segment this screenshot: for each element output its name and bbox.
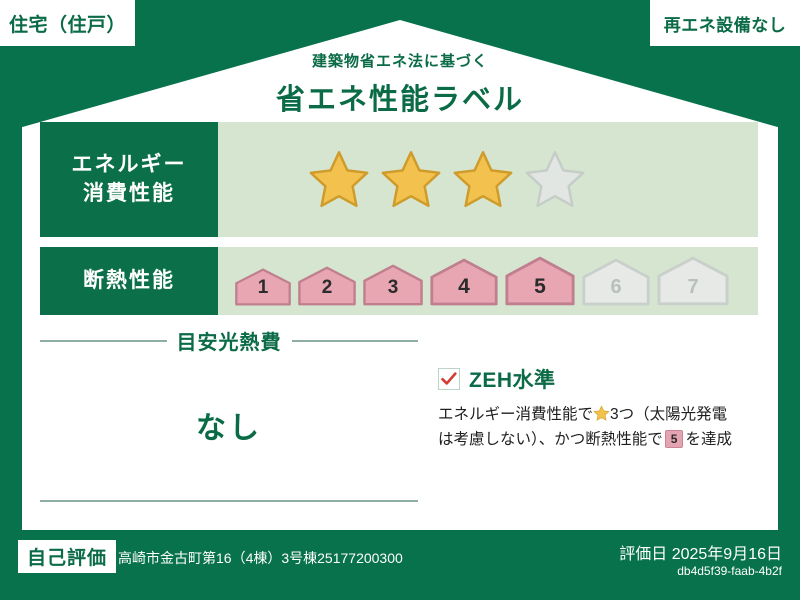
zeh-insulation-badge: 5 <box>665 430 684 448</box>
rule-left <box>40 340 167 342</box>
utility-cost-bottom-rule <box>40 500 418 502</box>
building-type-tag: 住宅（住戸） <box>0 0 135 46</box>
zeh-block: ZEH水準 エネルギー消費性能で3つ（太陽光発電は考慮しない）、かつ断熱性能で5… <box>438 364 788 452</box>
footer: 自己評価 高崎市金古町第16（4棟）3号棟25177200300 評価日 202… <box>0 530 800 600</box>
zeh-checkbox[interactable] <box>438 368 460 390</box>
zeh-header: ZEH水準 <box>438 364 788 394</box>
property-address: 高崎市金古町第16（4棟）3号棟25177200300 <box>118 548 403 568</box>
utility-cost-value: なし <box>40 403 418 447</box>
insulation-level-value: 2 <box>297 277 357 299</box>
insulation-level-6: 6 <box>581 258 651 306</box>
star-icon-empty <box>522 147 588 213</box>
energy-label-line1: エネルギー <box>72 151 187 179</box>
insulation-level-value: 1 <box>234 277 292 299</box>
insulation-performance-label-box: 断熱性能 <box>40 247 218 315</box>
insulation-level-5: 5 <box>504 256 576 306</box>
star-icon-filled <box>450 147 516 213</box>
insulation-level-1: 1 <box>234 268 292 306</box>
energy-label-line2: 消費性能 <box>83 180 175 208</box>
utility-cost-title: 目安光熱費 <box>177 326 282 355</box>
self-evaluation-badge: 自己評価 <box>18 540 116 573</box>
energy-performance-value <box>218 122 758 237</box>
insulation-level-value: 4 <box>429 275 499 299</box>
zeh-desc-part3: を達成 <box>685 431 732 448</box>
rule-right <box>292 340 419 342</box>
energy-performance-label-box: エネルギー 消費性能 <box>40 122 218 237</box>
insulation-level-4: 4 <box>429 258 499 306</box>
insulation-level-value: 5 <box>504 275 576 299</box>
zeh-desc-part2: は考慮しない）、かつ断熱性能で <box>438 431 663 448</box>
insulation-level-value: 6 <box>581 276 651 299</box>
zeh-desc-stars: 3つ（太陽光発電 <box>610 406 727 423</box>
insulation-level-value: 3 <box>362 277 424 299</box>
insulation-level-2: 2 <box>297 266 357 306</box>
insulation-label: 断熱性能 <box>83 267 175 295</box>
energy-performance-row: エネルギー 消費性能 <box>40 122 758 237</box>
page-title: 省エネ性能ラベル <box>0 76 800 118</box>
title-subtitle: 建築物省エネ法に基づく <box>0 50 800 71</box>
insulation-level-3: 3 <box>362 264 424 306</box>
check-icon <box>440 370 458 388</box>
zeh-title: ZEH水準 <box>469 364 556 394</box>
lower-section: 目安光熱費 なし ZEH水準 エネルギー消費性能で3つ（太陽光発電は考慮しない）… <box>40 326 758 502</box>
utility-cost-header: 目安光熱費 <box>40 326 418 355</box>
zeh-description: エネルギー消費性能で3つ（太陽光発電は考慮しない）、かつ断熱性能で5を達成 <box>438 402 788 452</box>
insulation-level-value: 7 <box>656 276 730 299</box>
document-id: db4d5f39-faab-4b2f <box>677 564 782 578</box>
renewable-equipment-tag: 再エネ設備なし <box>650 0 800 46</box>
rating-rows: エネルギー 消費性能 断熱性能 1234567 <box>40 122 758 325</box>
label-title: 建築物省エネ法に基づく 省エネ性能ラベル <box>0 50 800 118</box>
energy-performance-label: 住宅（住戸） 再エネ設備なし 建築物省エネ法に基づく 省エネ性能ラベル エネルギ… <box>0 0 800 600</box>
star-icon-filled <box>306 147 372 213</box>
insulation-performance-row: 断熱性能 1234567 <box>40 247 758 315</box>
insulation-level-7: 7 <box>656 256 730 306</box>
star-icon-filled <box>378 147 444 213</box>
zeh-desc-part1: エネルギー消費性能で <box>438 406 593 423</box>
star-rating <box>218 147 588 213</box>
insulation-performance-value: 1234567 <box>218 247 758 315</box>
insulation-level-scale: 1234567 <box>218 256 730 306</box>
evaluation-date: 評価日 2025年9月16日 <box>619 540 782 564</box>
star-icon-inline <box>593 405 610 422</box>
